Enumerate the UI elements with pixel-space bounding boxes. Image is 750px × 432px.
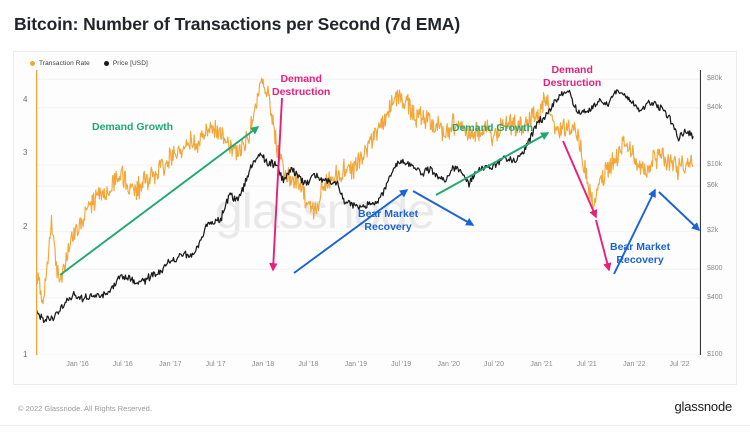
x-tick-label: Jan '18 [252,361,274,368]
annotation-text-line1: Demand [543,64,601,77]
annotation-text-line1: Demand [272,73,330,86]
annotation-demand-destruction-1: Demand Destruction [272,73,330,98]
y-left-tick-label: 2 [23,222,27,231]
y-right-tick-label: $40k [707,104,722,111]
y-right-tick-label: $6k [707,182,718,189]
annotation-text-line1: Bear Market [610,241,670,254]
y-right-tick-label: $2k [707,227,718,234]
legend-item-transaction-rate[interactable]: Transaction Rate [30,60,90,67]
x-tick-label: Jul '22 [670,361,690,368]
x-tick-label: Jul '17 [206,361,226,368]
y-left-tick-label: 1 [23,350,27,359]
arrow-demand-destruction-1 [273,98,282,270]
legend-label: Transaction Rate [39,60,90,67]
x-tick-label: Jul '20 [484,361,504,368]
series-transaction-rate [36,78,693,304]
annotation-bear-market-recovery-1: Bear Market Recovery [358,208,418,233]
annotation-demand-growth-2: Demand Growth [452,122,533,135]
chart-page: Bitcoin: Number of Transactions per Seco… [0,0,750,432]
y-left-tick-label: 4 [23,95,27,104]
x-tick-label: Jan '16 [66,361,88,368]
page-title: Bitcoin: Number of Transactions per Seco… [14,14,460,35]
y-left-tick-label: 3 [23,148,27,157]
x-tick-label: Jul '21 [577,361,597,368]
y-right-tick-label: $100 [707,351,723,358]
y-right-tick-label: $800 [707,265,723,272]
annotation-text-line2: Destruction [543,77,601,90]
y-right-tick-label: $400 [707,294,723,301]
annotation-text-line2: Destruction [272,86,330,99]
glassnode-logo: glassnode [675,399,732,414]
annotation-demand-growth-1: Demand Growth [92,121,173,134]
annotation-demand-destruction-2: Demand Destruction [543,64,601,89]
x-tick-label: Jan '21 [530,361,552,368]
annotation-text-line1: Bear Market [358,208,418,221]
arrow-demand-destruction-2 [563,141,596,217]
arrow-demand-destruction-2b [596,220,609,270]
x-tick-label: Jan '17 [159,361,181,368]
y-right-tick-label: $10k [707,161,722,168]
x-tick-label: Jul '16 [113,361,133,368]
series-layer [36,78,693,322]
x-tick-label: Jul '18 [298,361,318,368]
annotation-text: Demand Growth [92,121,173,133]
y-right-tick-label: $80k [707,75,722,82]
footer-divider [0,425,750,426]
x-tick-label: Jul '19 [391,361,411,368]
arrow-bear-decline-2 [659,192,699,230]
x-tick-label: Jan '22 [623,361,645,368]
legend-dot-icon [104,61,109,66]
x-tick-label: Jan '19 [345,361,367,368]
annotation-text: Demand Growth [452,122,533,134]
arrow-bear-decline-1 [413,191,473,225]
footer-copyright: © 2022 Glassnode. All Rights Reserved. [18,404,152,413]
legend-label: Price [USD] [113,60,148,67]
chart-legend: Transaction Rate Price [USD] [30,60,148,67]
annotation-bear-market-recovery-2: Bear Market Recovery [610,241,670,266]
legend-item-price[interactable]: Price [USD] [104,60,148,67]
annotation-text-line2: Recovery [358,221,418,234]
annotation-text-line2: Recovery [610,254,670,267]
x-tick-label: Jan '20 [438,361,460,368]
legend-dot-icon [30,61,35,66]
